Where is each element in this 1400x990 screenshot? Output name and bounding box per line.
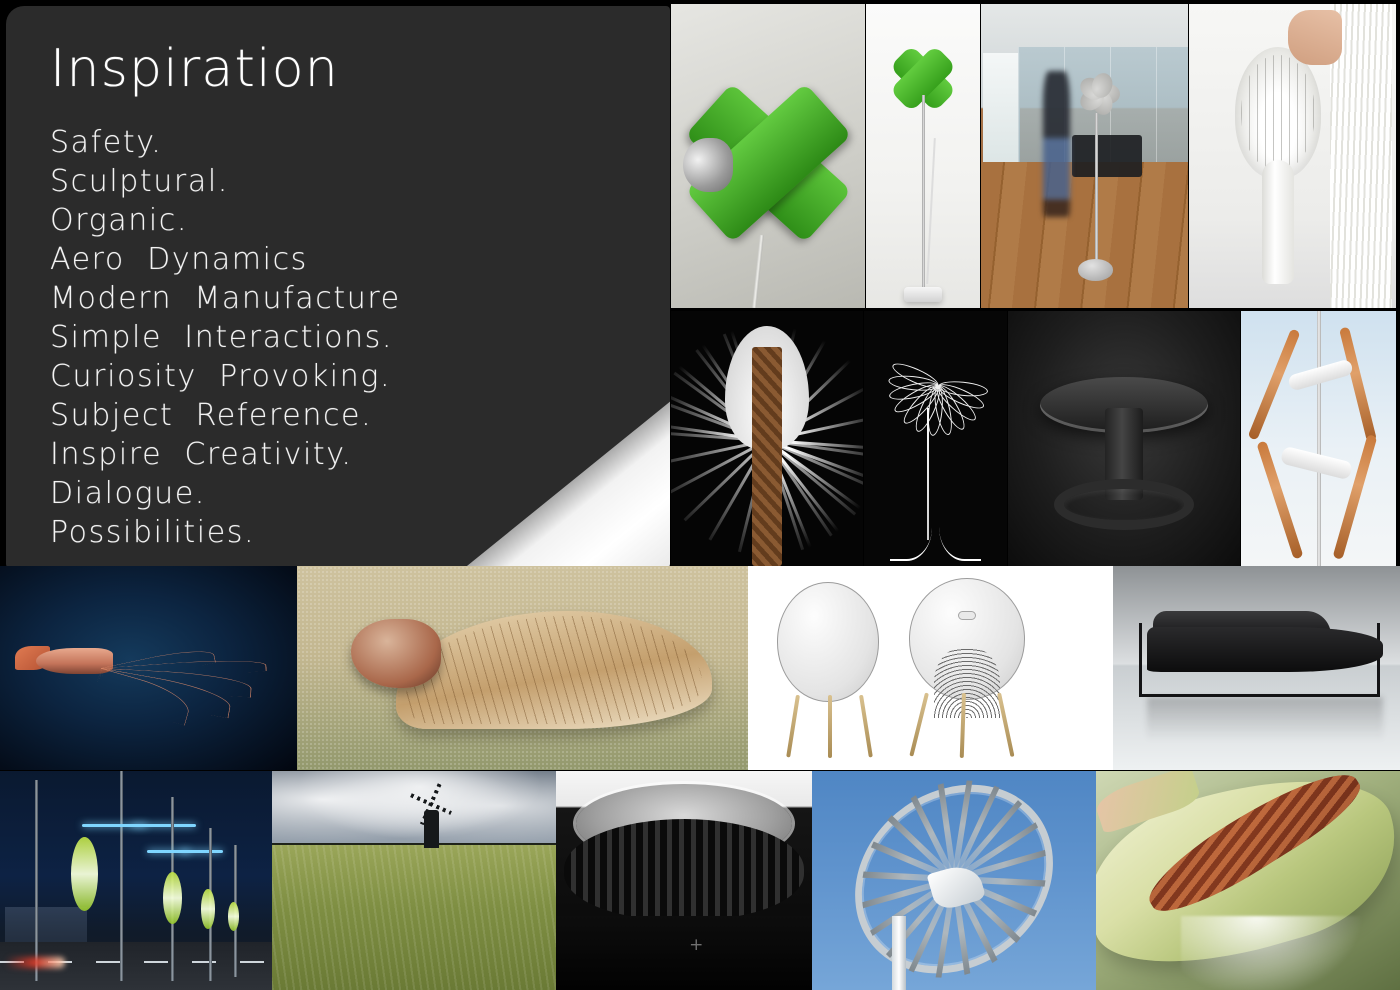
- moodboard-image-turbine-street-lamps: [0, 771, 272, 990]
- moodboard-image-white-ribbon-pendant-lamps: [1189, 4, 1396, 308]
- list-item: Possibilities.: [50, 513, 670, 552]
- list-item: Modern Manufacture: [50, 279, 670, 318]
- ribbed-pendant-lamp: [1235, 47, 1322, 284]
- seed-floss: [1181, 916, 1369, 990]
- lamp-cone-shape: [683, 138, 733, 193]
- list-item: Inspire Creativity.: [50, 435, 670, 474]
- squid-tentacles: [101, 627, 273, 709]
- moodboard-image-steel-wind-wheel: [812, 771, 1096, 990]
- seed-kernel: [351, 619, 441, 688]
- speaker-grille: [934, 646, 999, 718]
- seed-wing: [396, 611, 712, 729]
- braided-leather-rod: [752, 347, 783, 566]
- speaker-front-view: [777, 582, 879, 757]
- flower-fan-lamp-head: [1072, 59, 1126, 126]
- moodboard-image-black-daybed-sofa: [1113, 566, 1400, 770]
- moodboard-image-wire-loop-flower-lamp: [864, 311, 1007, 566]
- list-item: Sculptural.: [50, 162, 670, 201]
- wire-loop-head: [898, 326, 978, 423]
- page-title: Inspiration: [50, 42, 670, 97]
- moodboard-image-windmill-barley-field: [272, 771, 556, 990]
- moodboard-image-squid: [0, 566, 297, 770]
- moodboard-image-dark-round-stool: [1008, 311, 1240, 566]
- list-item: Subject Reference.: [50, 396, 670, 435]
- list-item: Aero Dynamics: [50, 240, 670, 279]
- list-item: Organic.: [50, 201, 670, 240]
- light-trail: [5, 957, 65, 968]
- moodboard-canvas: Inspiration Safety. Sculptural. Organic.…: [0, 0, 1400, 990]
- moodboard-image-office-flower-fan-lamp: [981, 4, 1188, 308]
- moodboard-image-tripod-speakers: [748, 566, 1113, 770]
- speaker-back-view: [909, 578, 1026, 758]
- hand: [1288, 10, 1342, 65]
- speaker-handle-slot: [958, 611, 977, 620]
- moodboard-image-green-x-wall-lamp: [671, 4, 865, 308]
- list-item: Safety.: [50, 123, 670, 162]
- plus-icon[interactable]: +: [689, 935, 703, 955]
- moodboard-image-samara-seed-wing: [297, 566, 748, 770]
- moodboard-image-green-x-floor-lamp: [866, 4, 980, 308]
- keyword-list: Safety. Sculptural. Organic. Aero Dynami…: [50, 123, 670, 552]
- list-item: Curiosity Provoking.: [50, 357, 670, 396]
- moodboard-image-milkweed-seed-pod: [1096, 771, 1400, 990]
- inspiration-panel: Inspiration Safety. Sculptural. Organic.…: [6, 6, 670, 568]
- list-item: Dialogue.: [50, 474, 670, 513]
- blurred-person: [1043, 71, 1070, 217]
- speaker-fins: [564, 819, 805, 920]
- windmill: [408, 782, 453, 848]
- moodboard-image-finned-black-speaker: +: [556, 771, 812, 990]
- moodboard-image-helical-wind-turbine: [1241, 311, 1396, 566]
- moodboard-image-starburst-braided-rod: [671, 311, 863, 566]
- list-item: Simple Interactions.: [50, 318, 670, 357]
